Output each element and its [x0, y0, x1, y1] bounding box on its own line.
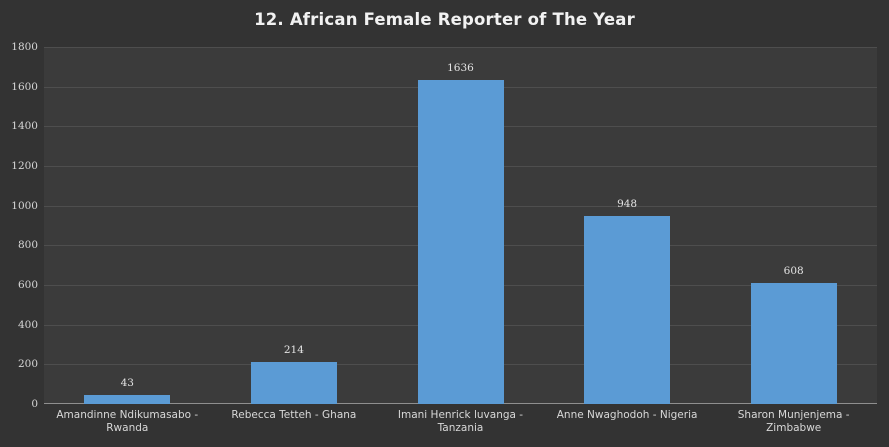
y-axis-tick-label: 1200	[0, 161, 38, 172]
bar-value-label: 214	[244, 345, 344, 356]
bar[interactable]	[751, 283, 837, 404]
bar[interactable]	[84, 395, 170, 404]
y-axis: 020040060080010001200140016001800	[0, 47, 38, 404]
gridline	[44, 47, 877, 48]
x-axis: Amandinne Ndikumasabo - RwandaRebecca Te…	[44, 409, 877, 447]
y-axis-tick-label: 200	[0, 359, 38, 370]
bar[interactable]	[584, 216, 670, 404]
bar-chart-figure: 12. African Female Reporter of The Year …	[0, 0, 889, 447]
y-axis-tick-label: 1800	[0, 42, 38, 53]
y-axis-tick-label: 0	[0, 399, 38, 410]
y-axis-tick-label: 1600	[0, 81, 38, 92]
chart-title: 12. African Female Reporter of The Year	[0, 10, 889, 29]
bar[interactable]	[251, 362, 337, 404]
x-axis-tick-label: Rebecca Tetteh - Ghana	[211, 409, 378, 422]
y-axis-tick-label: 400	[0, 319, 38, 330]
x-axis-tick-label: Sharon Munjenjema - Zimbabwe	[710, 409, 877, 435]
bar[interactable]	[418, 80, 504, 404]
bar-value-label: 608	[744, 266, 844, 277]
x-axis-tick-label: Amandinne Ndikumasabo - Rwanda	[44, 409, 211, 435]
x-axis-tick-label: Imani Henrick luvanga - Tanzania	[377, 409, 544, 435]
bar-value-label: 1636	[411, 63, 511, 74]
y-axis-tick-label: 1400	[0, 121, 38, 132]
y-axis-tick-label: 1000	[0, 200, 38, 211]
x-axis-tick-label: Anne Nwaghodoh - Nigeria	[544, 409, 711, 422]
bar-value-label: 43	[77, 378, 177, 389]
y-axis-tick-label: 800	[0, 240, 38, 251]
bar-value-label: 948	[577, 199, 677, 210]
plot-area: 432141636948608	[44, 47, 877, 404]
y-axis-tick-label: 600	[0, 280, 38, 291]
